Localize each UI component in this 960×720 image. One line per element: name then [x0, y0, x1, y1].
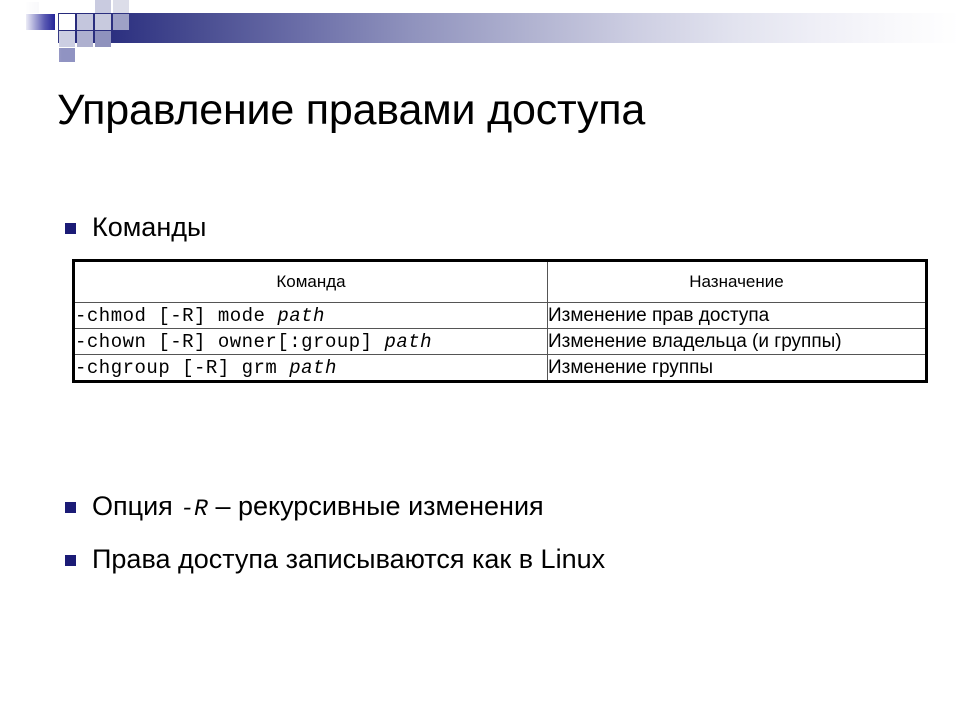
column-header-command: Команда	[74, 261, 548, 303]
option-code: -R	[180, 496, 208, 522]
table-row: -chgroup [-R] grm path Изменение группы	[74, 355, 927, 382]
cell-description: Изменение группы	[548, 355, 927, 382]
option-prefix: Опция	[92, 491, 173, 521]
deco-square	[95, 14, 111, 30]
deco-square	[77, 0, 93, 13]
bullet-label-option-r: Опция -R – рекурсивные изменения	[92, 491, 544, 524]
header-gradient-fade	[0, 0, 62, 62]
deco-square	[113, 14, 129, 30]
bullet-label-permissions: Права доступа записываются как в Linux	[92, 544, 605, 574]
deco-square	[95, 0, 111, 13]
square-bullet-icon	[65, 502, 76, 513]
command-text: -chmod [-R] mode	[75, 305, 277, 327]
cell-command: -chmod [-R] mode path	[74, 303, 548, 329]
bullet-item-permissions: Права доступа записываются как в Linux	[65, 544, 605, 574]
command-arg: path	[277, 305, 325, 327]
deco-square	[77, 31, 93, 47]
option-suffix: – рекурсивные изменения	[215, 491, 543, 521]
page-title: Управление правами доступа	[57, 84, 917, 136]
table-row: -chown [-R] owner[:group] path Изменение…	[74, 329, 927, 355]
column-header-purpose: Назначение	[548, 261, 927, 303]
header-decoration	[0, 0, 960, 62]
command-arg: path	[289, 357, 337, 379]
square-bullet-icon	[65, 223, 76, 234]
deco-square	[113, 0, 129, 13]
square-bullet-icon	[65, 555, 76, 566]
bullet-item-option-r: Опция -R – рекурсивные изменения	[65, 491, 544, 524]
cell-description: Изменение владельца (и группы)	[548, 329, 927, 355]
command-text: -chown [-R] owner[:group]	[75, 331, 384, 353]
command-arg: path	[384, 331, 432, 353]
deco-square	[77, 14, 93, 30]
header-gradient-bar	[58, 13, 960, 43]
command-text: -chgroup [-R] grm	[75, 357, 289, 379]
bullet-item-commands: Команды	[65, 212, 206, 242]
cell-description: Изменение прав доступа	[548, 303, 927, 329]
bullet-label-commands: Команды	[92, 212, 206, 242]
deco-square	[95, 31, 111, 47]
table-row: -chmod [-R] mode path Изменение прав дос…	[74, 303, 927, 329]
table-header-row: Команда Назначение	[74, 261, 927, 303]
cell-command: -chgroup [-R] grm path	[74, 355, 548, 382]
cell-command: -chown [-R] owner[:group] path	[74, 329, 548, 355]
commands-table: Команда Назначение -chmod [-R] mode path…	[72, 259, 928, 383]
